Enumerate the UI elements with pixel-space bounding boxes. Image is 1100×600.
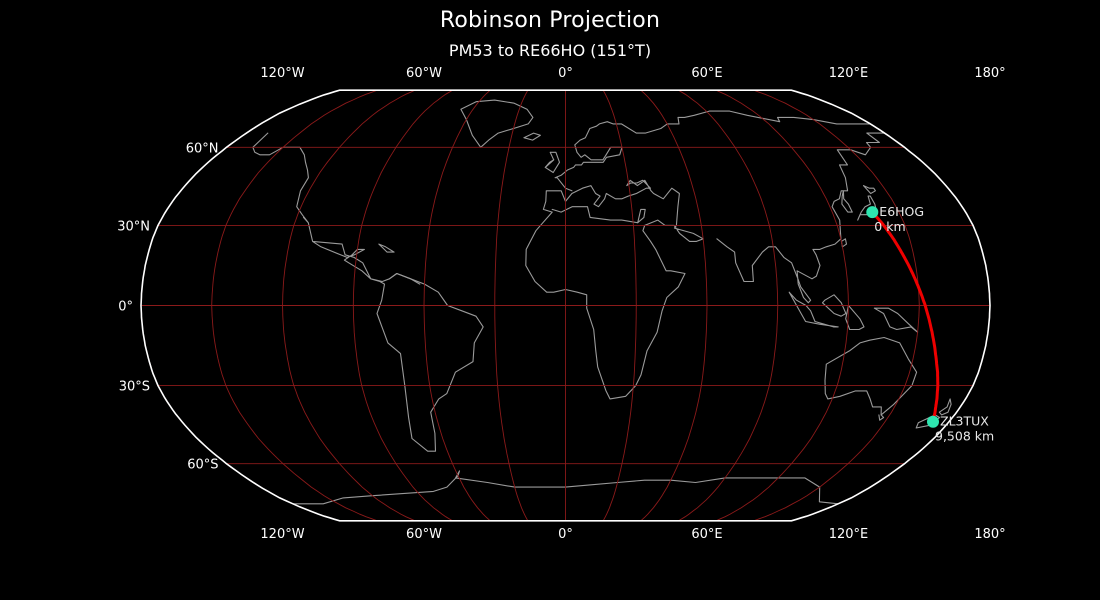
lat-tick-left: 60°S bbox=[187, 458, 218, 473]
lon-tick-top: 180° bbox=[974, 66, 1005, 81]
lat-tick-left: 30°N bbox=[117, 219, 150, 234]
coastlines-layer bbox=[253, 100, 951, 504]
station-dot[interactable] bbox=[866, 206, 878, 218]
station-callsign-label: E6HOG bbox=[879, 204, 924, 219]
station-distance-label: 0 km bbox=[874, 219, 905, 234]
lon-tick-bottom: 120°W bbox=[260, 527, 304, 542]
station-dot[interactable] bbox=[927, 416, 939, 428]
lat-tick-left: 0° bbox=[118, 300, 133, 315]
great-circle-path bbox=[872, 212, 938, 422]
map-figure: Robinson Projection PM53 to RE66HO (151°… bbox=[0, 0, 1100, 600]
lon-tick-bottom: 60°W bbox=[406, 527, 442, 542]
lon-tick-bottom: 120°E bbox=[829, 527, 869, 542]
lon-tick-bottom: 0° bbox=[558, 527, 573, 542]
lon-tick-top: 120°E bbox=[829, 66, 869, 81]
station-marker[interactable]: E6HOG0 km bbox=[866, 204, 924, 234]
station-distance-label: 9,508 km bbox=[935, 429, 994, 444]
station-callsign-label: ZL3TUX bbox=[940, 414, 989, 429]
lon-tick-top: 60°W bbox=[406, 66, 442, 81]
lon-tick-top: 120°W bbox=[260, 66, 304, 81]
lat-tick-left: 60°N bbox=[186, 141, 219, 156]
lon-tick-bottom: 60°E bbox=[691, 527, 722, 542]
lat-tick-left: 30°S bbox=[119, 380, 150, 395]
lon-tick-top: 0° bbox=[558, 66, 573, 81]
robinson-map-canvas: E6HOG0 kmZL3TUX9,508 km 0°0°60°E60°E120°… bbox=[0, 0, 1100, 600]
lon-tick-bottom: 180° bbox=[974, 527, 1005, 542]
station-marker[interactable]: ZL3TUX9,508 km bbox=[927, 414, 994, 444]
lon-tick-top: 60°E bbox=[691, 66, 722, 81]
map-svg: E6HOG0 kmZL3TUX9,508 km 0°0°60°E60°E120°… bbox=[0, 0, 1100, 600]
